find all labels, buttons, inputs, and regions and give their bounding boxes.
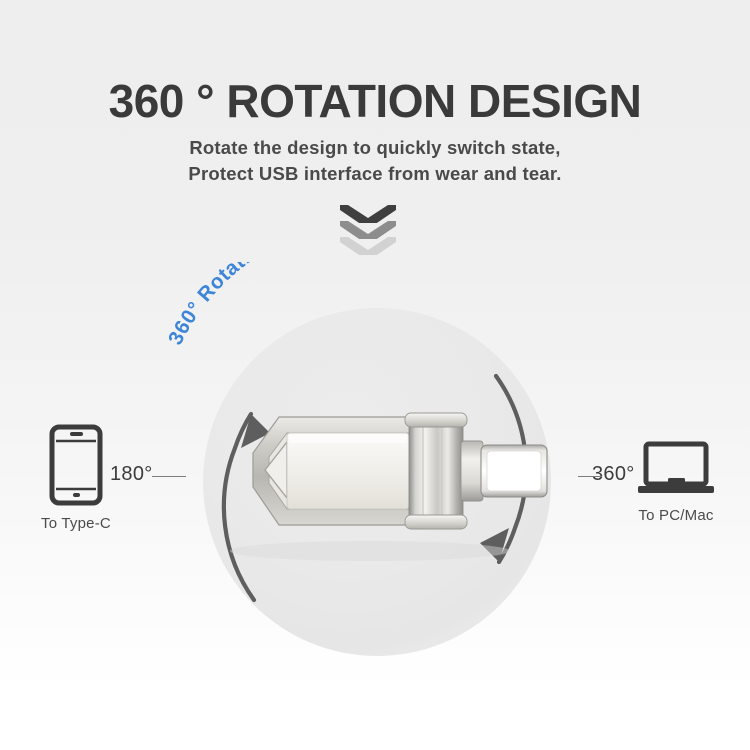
subtitle-line-1: Rotate the design to quickly switch stat… [0, 137, 750, 159]
chevron-down-icon [340, 237, 396, 254]
subtitle-line-2: Protect USB interface from wear and tear… [0, 163, 750, 185]
smartphone-icon [49, 424, 103, 506]
left-leader-line [152, 476, 186, 477]
right-device-label: To PC/Mac [616, 507, 736, 524]
left-angle-label: 180° [110, 463, 153, 486]
laptop-icon [636, 440, 716, 498]
right-leader-line [578, 476, 602, 477]
left-device-label: To Type-C [16, 515, 136, 532]
usb-flash-drive-image [195, 375, 565, 565]
page-title: 360 ° ROTATION DESIGN [0, 74, 750, 128]
chevron-down-icon [340, 221, 396, 238]
product-feature-banner: 360 ° ROTATION DESIGN Rotate the design … [0, 0, 750, 750]
chevron-down-icon [340, 205, 396, 222]
chevron-stack [340, 205, 410, 263]
right-angle-label: 360° [592, 463, 635, 486]
